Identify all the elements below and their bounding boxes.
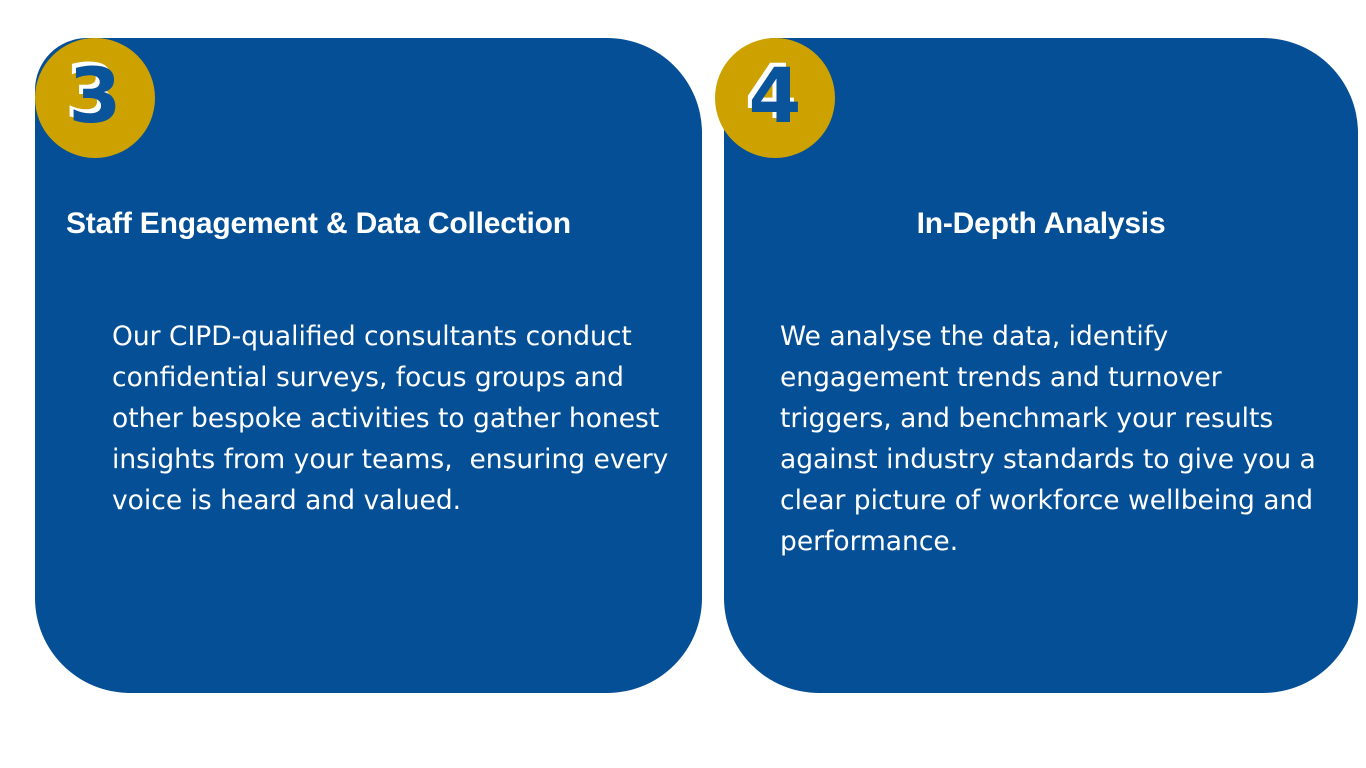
process-steps-row: Staff Engagement & Data Collection Our C… — [0, 0, 1366, 768]
step-badge-3: 3 — [35, 38, 155, 158]
step-badge-4-number: 4 — [749, 58, 802, 134]
step-card-4-body: We analyse the data, identify engagement… — [780, 316, 1320, 562]
step-card-3-title: Staff Engagement & Data Collection — [66, 206, 571, 242]
step-badge-3-number: 3 — [69, 58, 122, 134]
step-card-4-title: In-Depth Analysis — [724, 206, 1358, 242]
step-card-3-body: Our CIPD-qualified consultants conduct c… — [112, 316, 672, 521]
step-badge-4: 4 — [715, 38, 835, 158]
